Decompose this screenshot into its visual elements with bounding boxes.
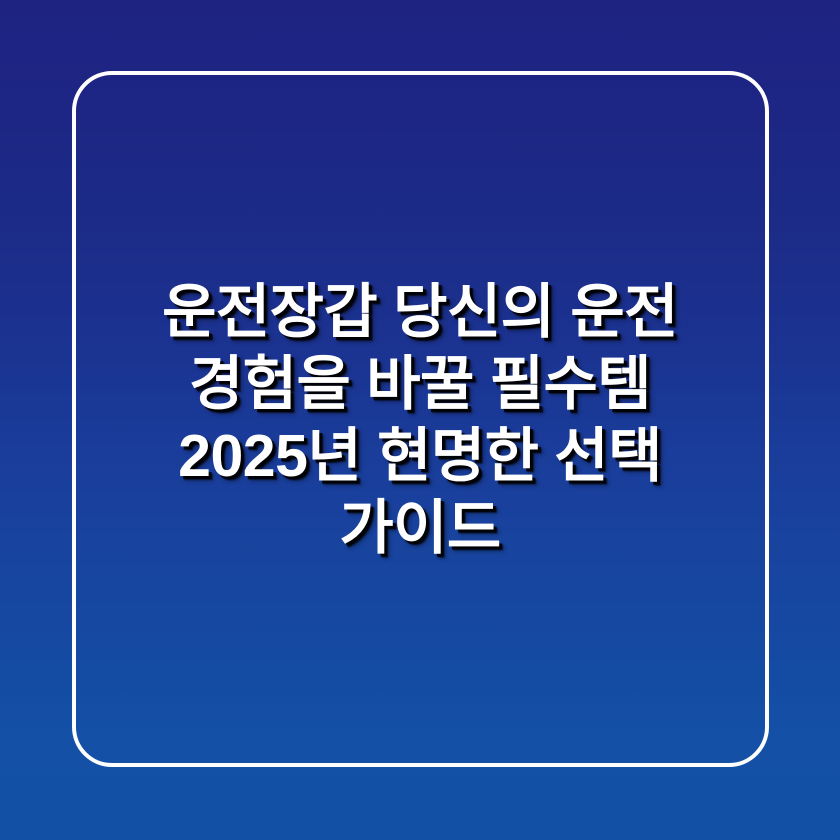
- headline-line-3: 2025년 현명한 선택: [96, 420, 744, 492]
- headline-block: 운전장갑 당신의 운전 경험을 바꿀 필수템 2025년 현명한 선택 가이드: [0, 0, 840, 840]
- headline-line-4: 가이드: [96, 492, 744, 564]
- poster-canvas: 운전장갑 당신의 운전 경험을 바꿀 필수템 2025년 현명한 선택 가이드: [0, 0, 840, 840]
- headline-line-2: 경험을 바꿀 필수템: [96, 348, 744, 420]
- headline-line-1: 운전장갑 당신의 운전: [96, 276, 744, 348]
